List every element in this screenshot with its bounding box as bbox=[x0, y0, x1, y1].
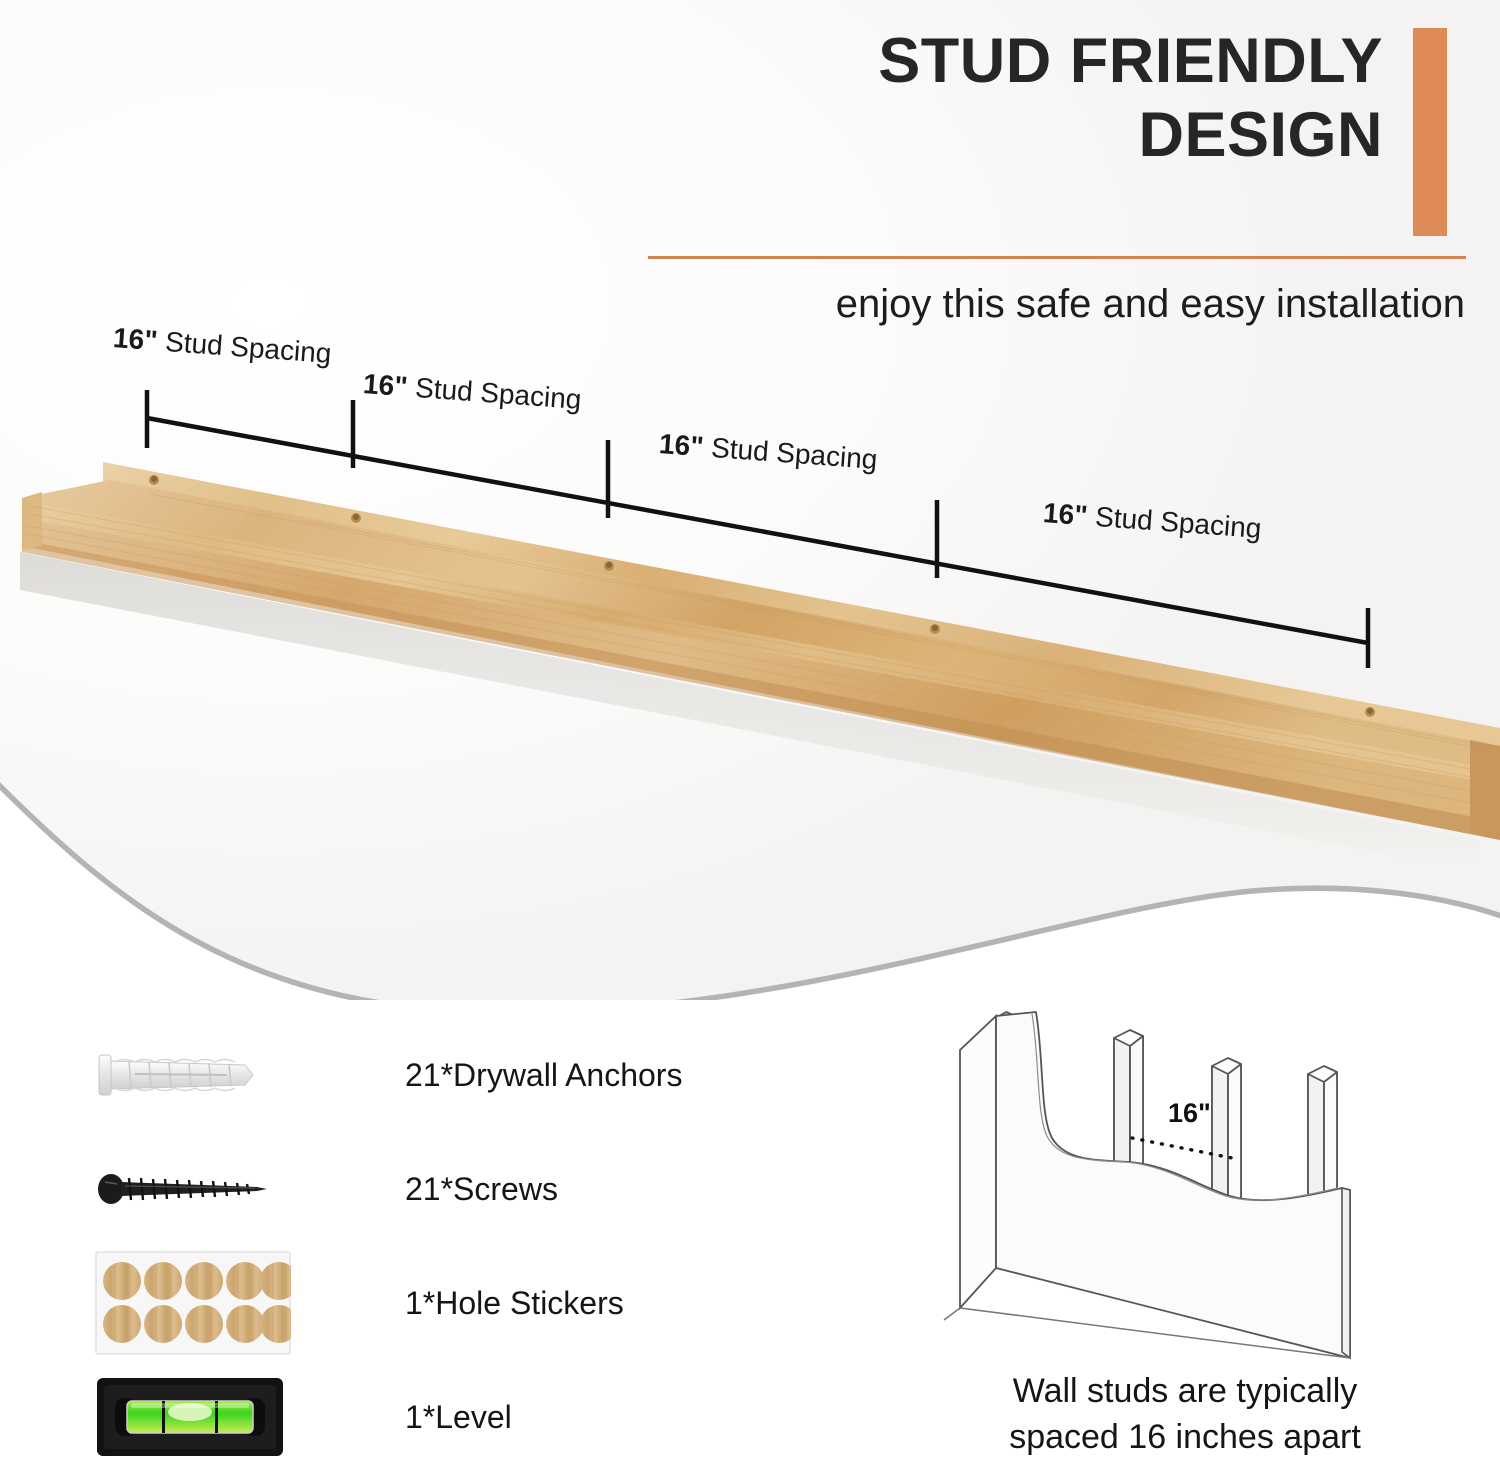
accessory-row-drywall-anchors: 21*Drywall Anchors bbox=[95, 1018, 815, 1132]
accessory-label-drywall-anchors: 21*Drywall Anchors bbox=[405, 1057, 682, 1094]
bubble-level-icon bbox=[95, 1367, 310, 1467]
dimension-label: 16" bbox=[1168, 1098, 1211, 1128]
screw-icon bbox=[95, 1139, 310, 1239]
accessory-label-screws: 21*Screws bbox=[405, 1171, 558, 1208]
accessory-row-level: 1*Level bbox=[95, 1360, 815, 1474]
hero-section: STUD FRIENDLY DESIGN enjoy this safe and… bbox=[0, 0, 1500, 1010]
stud-spacing-value-3: 16" bbox=[658, 428, 705, 462]
stud-spacing-value-1: 16" bbox=[112, 322, 159, 356]
wall-stud-diagram: 16" bbox=[940, 990, 1440, 1390]
stud-spacing-value-4: 16" bbox=[1042, 497, 1089, 531]
hole-sticker-sheet-icon bbox=[95, 1253, 310, 1353]
accessories-list: 21*Drywall Anchors bbox=[95, 1018, 815, 1474]
accessory-label-level: 1*Level bbox=[405, 1399, 512, 1436]
caption-line-1: Wall studs are typically bbox=[940, 1368, 1430, 1414]
stud-spacing-value-2: 16" bbox=[362, 368, 409, 402]
section-divider bbox=[0, 760, 1500, 1010]
caption-line-2: spaced 16 inches apart bbox=[940, 1414, 1430, 1460]
bottom-section: 21*Drywall Anchors bbox=[0, 1000, 1500, 1474]
accessory-row-screws: 21*Screws bbox=[95, 1132, 815, 1246]
accessory-label-hole-stickers: 1*Hole Stickers bbox=[405, 1285, 624, 1322]
drywall-anchor-icon bbox=[95, 1025, 310, 1125]
accessory-row-hole-stickers: 1*Hole Stickers bbox=[95, 1246, 815, 1360]
stud-diagram-caption: Wall studs are typically spaced 16 inche… bbox=[940, 1368, 1430, 1460]
